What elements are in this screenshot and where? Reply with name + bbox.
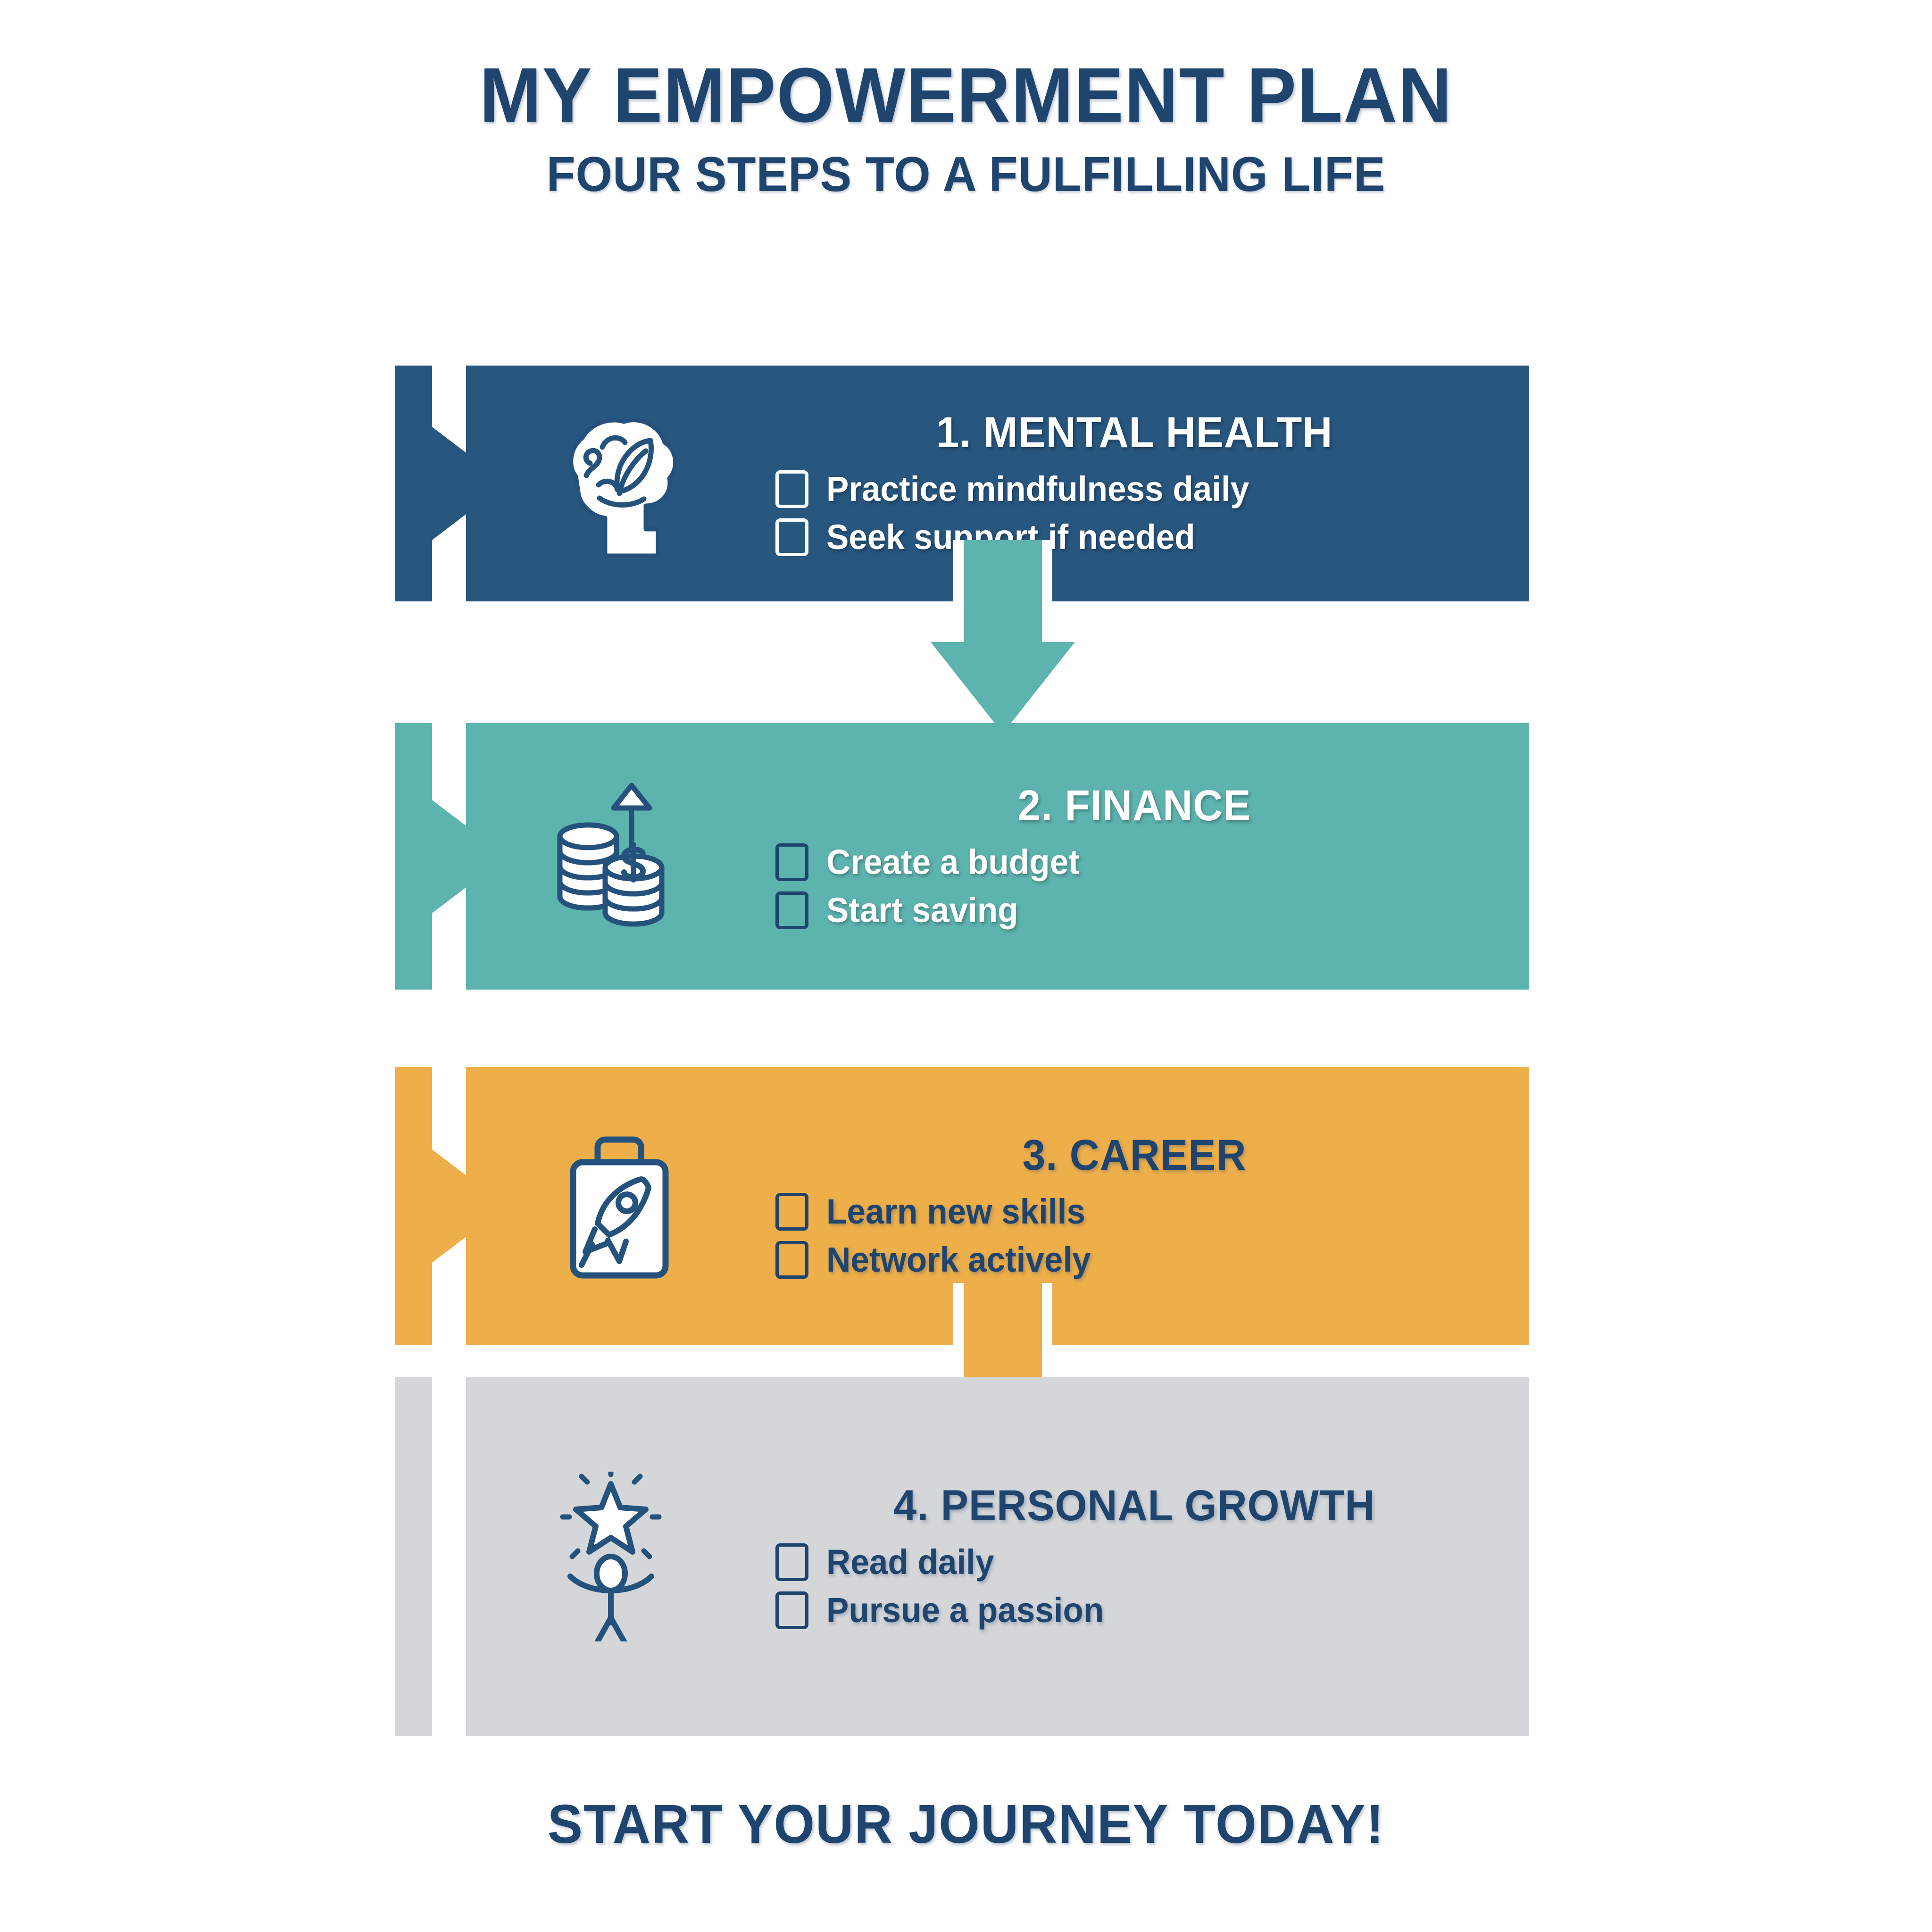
step-text: 4. PERSONAL GROWTH Read daily Pursue a p…: [754, 1484, 1515, 1629]
step-title: 3. CAREER: [773, 1133, 1496, 1177]
checklist-item[interactable]: Seek support if needed: [754, 518, 1515, 556]
checklist-label: Practice mindfulness daily: [826, 471, 1249, 508]
coins-growth-arrow-icon: [541, 772, 697, 941]
checkbox[interactable]: [775, 1543, 808, 1581]
checklist-item[interactable]: Read daily: [754, 1543, 1515, 1581]
checkbox[interactable]: [775, 1241, 808, 1279]
step-title: 1. MENTAL HEALTH: [773, 411, 1496, 454]
checklist-label: Pursue a passion: [826, 1592, 1104, 1629]
step-text: 1. MENTAL HEALTH Practice mindfulness da…: [754, 411, 1515, 556]
step-card-mental-health[interactable]: 1. MENTAL HEALTH Practice mindfulness da…: [395, 366, 1529, 601]
header: MY EMPOWERMENT PLAN FOUR STEPS TO A FULF…: [0, 57, 1932, 199]
checkbox[interactable]: [775, 843, 808, 881]
infographic-canvas: MY EMPOWERMENT PLAN FOUR STEPS TO A FULF…: [0, 0, 1932, 1932]
checklist-item[interactable]: Practice mindfulness daily: [754, 470, 1515, 508]
checkbox[interactable]: [775, 891, 808, 929]
step-card-personal-growth[interactable]: 4. PERSONAL GROWTH Read daily Pursue a p…: [395, 1377, 1529, 1736]
checkbox[interactable]: [775, 470, 808, 508]
head-brain-leaf-icon: [541, 399, 697, 568]
checklist-item[interactable]: Network actively: [754, 1241, 1515, 1279]
checklist-item[interactable]: Learn new skills: [754, 1193, 1515, 1231]
checklist-label: Create a budget: [826, 844, 1080, 881]
checklist-label: Start saving: [826, 892, 1018, 929]
checklist-label: Network actively: [826, 1241, 1091, 1278]
checklist-label: Seek support if needed: [826, 519, 1195, 556]
footer: START YOUR JOURNEY TODAY!: [0, 1792, 1932, 1856]
steps-flow: 1. MENTAL HEALTH Practice mindfulness da…: [395, 366, 1529, 1736]
cta-text: START YOUR JOURNEY TODAY!: [39, 1792, 1893, 1856]
step-text: 2. FINANCE Create a budget Start saving: [754, 784, 1515, 929]
checklist: Practice mindfulness daily Seek support …: [754, 470, 1515, 556]
step-title: 4. PERSONAL GROWTH: [773, 1484, 1496, 1527]
step-title: 2. FINANCE: [773, 784, 1496, 827]
checklist: Learn new skills Network actively: [754, 1193, 1515, 1279]
checklist-label: Learn new skills: [826, 1193, 1085, 1230]
checkbox[interactable]: [775, 518, 808, 556]
step-card-career[interactable]: 3. CAREER Learn new skills Network activ…: [395, 1067, 1529, 1345]
checkbox[interactable]: [775, 1591, 808, 1629]
checklist-item[interactable]: Pursue a passion: [754, 1591, 1515, 1629]
checklist-item[interactable]: Create a budget: [754, 843, 1515, 881]
page-title: MY EMPOWERMENT PLAN: [39, 57, 1893, 134]
step-text: 3. CAREER Learn new skills Network activ…: [754, 1133, 1515, 1279]
page-subtitle: FOUR STEPS TO A FULFILLING LIFE: [39, 150, 1893, 199]
briefcase-rocket-icon: [541, 1121, 697, 1291]
checklist-label: Read daily: [826, 1544, 994, 1581]
checklist: Create a budget Start saving: [754, 843, 1515, 929]
checkbox[interactable]: [775, 1193, 808, 1231]
person-star-icon: [541, 1472, 697, 1641]
checklist: Read daily Pursue a passion: [754, 1543, 1515, 1629]
step-card-finance[interactable]: 2. FINANCE Create a budget Start saving: [395, 723, 1529, 990]
checklist-item[interactable]: Start saving: [754, 891, 1515, 929]
